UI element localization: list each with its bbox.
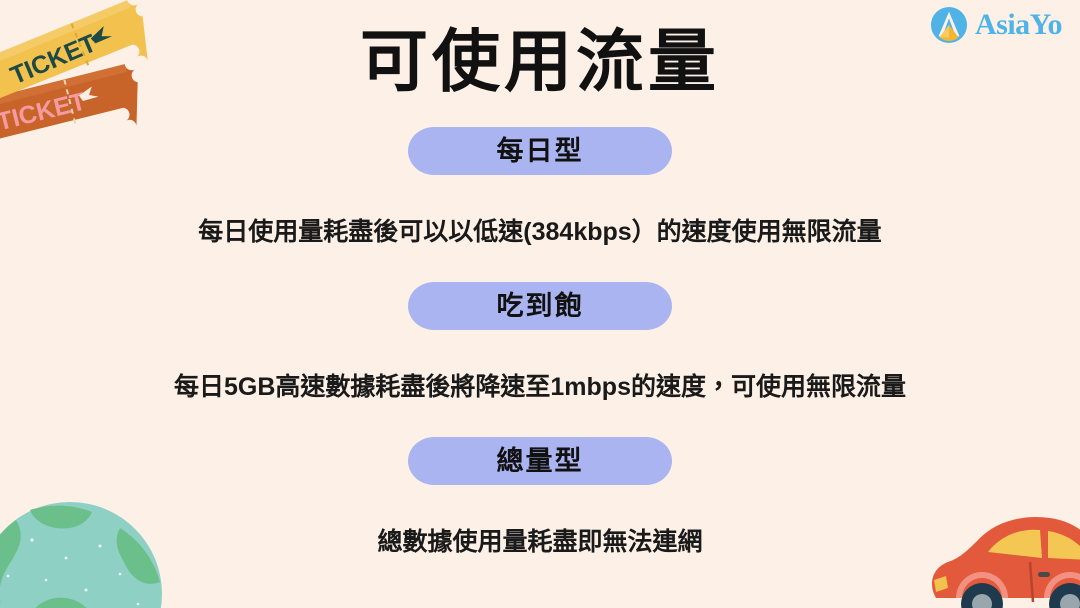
plan-badge-daily[interactable]: 每日型 xyxy=(408,127,672,175)
page-title: 可使用流量 xyxy=(360,26,720,99)
plan-description-daily: 每日使用量耗盡後可以以低速(384kbps）的速度使用無限流量 xyxy=(198,212,881,248)
plan-section-total: 總量型 總數據使用量耗盡即無法連網 xyxy=(0,437,1080,558)
plan-badge-unlimited[interactable]: 吃到飽 xyxy=(408,282,672,330)
main-content: 可使用流量 每日型 每日使用量耗盡後可以以低速(384kbps）的速度使用無限流… xyxy=(0,0,1080,558)
plan-section-unlimited: 吃到飽 每日5GB高速數據耗盡後將降速至1mbps的速度，可使用無限流量 xyxy=(0,282,1080,403)
plan-section-daily: 每日型 每日使用量耗盡後可以以低速(384kbps）的速度使用無限流量 xyxy=(0,127,1080,248)
plan-description-total: 總數據使用量耗盡即無法連網 xyxy=(377,522,702,558)
plan-badge-total[interactable]: 總量型 xyxy=(408,437,672,485)
plan-description-unlimited: 每日5GB高速數據耗盡後將降速至1mbps的速度，可使用無限流量 xyxy=(174,367,906,403)
